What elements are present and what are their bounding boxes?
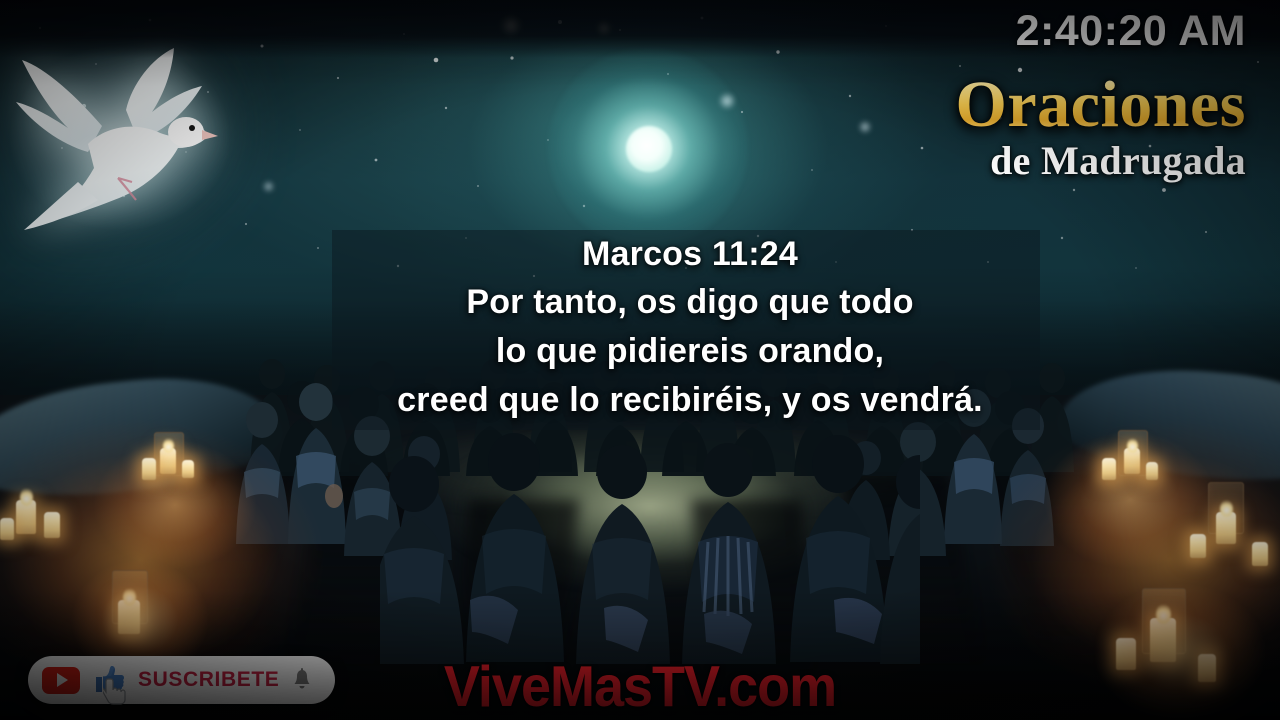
brand-title: Oraciones [956,72,1246,138]
candle-l6 [0,518,14,540]
candle-l5 [44,512,60,538]
sky-bokeh-e [262,180,275,193]
sky-bokeh-d [858,120,872,134]
flame-r7 [1156,604,1171,624]
flame-r4 [1220,500,1233,517]
verse-line-3: creed que lo recibiréis, y os vendrá. [300,376,1080,425]
candle-l3 [182,460,194,478]
white-dove-logo [6,40,234,236]
flame-l4 [20,488,33,506]
channel-title-block: Oraciones de Madrugada [956,72,1246,181]
seated-figures-foreground [380,430,920,680]
flame-l7 [123,588,136,606]
candle-r5 [1190,534,1206,558]
verse-reference: Marcos 11:24 [300,232,1080,278]
verse-line-1: Por tanto, os digo que todo [300,278,1080,327]
clock-display: 2:40:20 AM [1016,7,1246,56]
flame-l1 [163,438,174,453]
candle-r3 [1146,462,1158,480]
brand-subtitle: de Madrugada [956,141,1246,181]
flame-r1 [1127,438,1138,453]
site-watermark: ViveMasTV.com [0,654,1280,720]
candle-r2 [1102,458,1116,480]
candle-l2 [142,458,156,480]
verse-line-2: lo que pidiereis orando, [300,327,1080,376]
video-frame: 2:40:20 AM Oraciones de Madrugada Marcos… [0,0,1280,720]
verse-text-block: Marcos 11:24 Por tanto, os digo que todo… [300,232,1080,425]
moon [626,126,672,172]
candle-r6 [1252,542,1268,566]
